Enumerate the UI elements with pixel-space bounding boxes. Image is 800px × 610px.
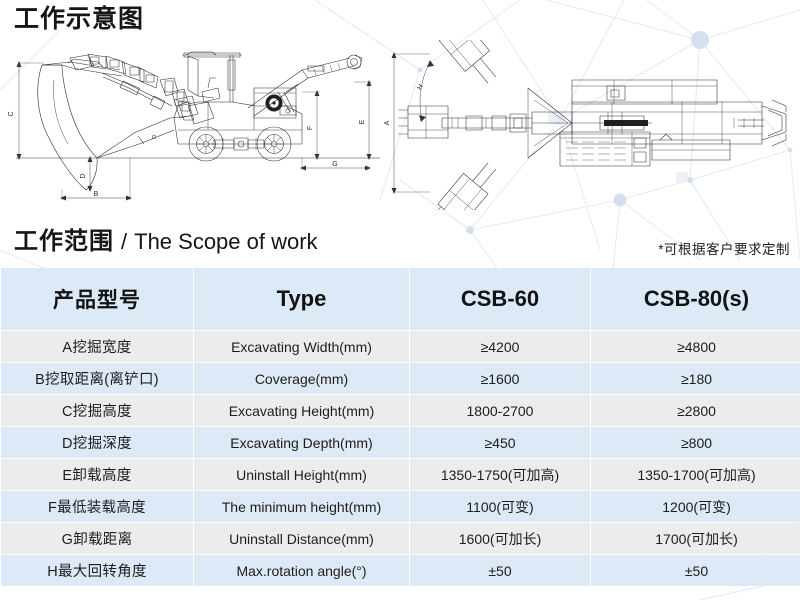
table-row: B挖取距离(离铲口) Coverage(mm) ≥1600 ≥180 bbox=[1, 363, 800, 394]
scope-heading-cn: 工作范围 bbox=[14, 221, 114, 256]
row-value-csb80: ≥180 bbox=[591, 363, 800, 394]
svg-text:A: A bbox=[384, 120, 391, 125]
row-label-en: Max.rotation angle(°) bbox=[194, 555, 409, 586]
row-value-csb80: 1200(可变) bbox=[591, 491, 800, 522]
customization-note: *可根据客户要求定制 bbox=[658, 238, 790, 258]
row-label-cn: D挖掘深度 bbox=[1, 427, 193, 458]
header-model: 产品型号 bbox=[1, 268, 193, 330]
row-value-csb80: ≥4800 bbox=[591, 331, 800, 362]
row-value-csb80: 1700(可加长) bbox=[591, 523, 800, 554]
diagram-area: C D B F E G bbox=[0, 40, 800, 210]
table-row: H最大回转角度 Max.rotation angle(°) ±50 ±50 bbox=[1, 555, 800, 586]
header-type: Type bbox=[194, 268, 409, 330]
svg-text:G: G bbox=[332, 161, 337, 168]
row-label-en: Excavating Depth(mm) bbox=[194, 427, 409, 458]
row-value-csb60: 1800-2700 bbox=[410, 395, 590, 426]
table-header: 产品型号 Type CSB-60 CSB-80(s) bbox=[1, 268, 800, 330]
row-value-csb80: ±50 bbox=[591, 555, 800, 586]
table-row: D挖掘深度 Excavating Depth(mm) ≥450 ≥800 bbox=[1, 427, 800, 458]
loader-side-view-diagram: C D B F E G bbox=[2, 40, 382, 210]
table-row: A挖掘宽度 Excavating Width(mm) ≥4200 ≥4800 bbox=[1, 331, 800, 362]
scope-heading-separator: / bbox=[121, 229, 127, 255]
row-value-csb60: ≥1600 bbox=[410, 363, 590, 394]
row-label-en: Uninstall Height(mm) bbox=[194, 459, 409, 490]
row-value-csb80: ≥800 bbox=[591, 427, 800, 458]
row-value-csb60: 1600(可加长) bbox=[410, 523, 590, 554]
row-label-en: Uninstall Distance(mm) bbox=[194, 523, 409, 554]
row-label-en: Excavating Height(mm) bbox=[194, 395, 409, 426]
table-row: C挖掘高度 Excavating Height(mm) 1800-2700 ≥2… bbox=[1, 395, 800, 426]
row-value-csb60: 1350-1750(可加高) bbox=[410, 459, 590, 490]
row-value-csb80: ≥2800 bbox=[591, 395, 800, 426]
row-label-cn: H最大回转角度 bbox=[1, 555, 193, 586]
page-title: 工作示意图 bbox=[14, 4, 144, 34]
row-label-cn: C挖掘高度 bbox=[1, 395, 193, 426]
row-value-csb80: 1350-1700(可加高) bbox=[591, 459, 800, 490]
svg-text:F: F bbox=[307, 126, 314, 130]
header-csb80: CSB-80(s) bbox=[591, 268, 800, 330]
svg-text:D: D bbox=[80, 173, 87, 178]
row-value-csb60: ±50 bbox=[410, 555, 590, 586]
row-value-csb60: ≥450 bbox=[410, 427, 590, 458]
svg-text:C: C bbox=[8, 111, 15, 116]
row-label-cn: F最低装载高度 bbox=[1, 491, 193, 522]
row-label-cn: E卸载高度 bbox=[1, 459, 193, 490]
svg-text:B: B bbox=[94, 191, 99, 198]
scope-heading-en: The Scope of work bbox=[134, 229, 317, 255]
svg-text:H: H bbox=[416, 83, 425, 91]
loader-top-view-diagram: A H bbox=[382, 40, 800, 210]
product-spec-page: 工作示意图 bbox=[0, 0, 800, 610]
row-label-cn: B挖取距离(离铲口) bbox=[1, 363, 193, 394]
row-label-cn: G卸载距离 bbox=[1, 523, 193, 554]
row-value-csb60: ≥4200 bbox=[410, 331, 590, 362]
row-label-en: Coverage(mm) bbox=[194, 363, 409, 394]
table-body: A挖掘宽度 Excavating Width(mm) ≥4200 ≥4800 B… bbox=[1, 331, 800, 586]
specification-table: 产品型号 Type CSB-60 CSB-80(s) A挖掘宽度 Excavat… bbox=[0, 267, 800, 587]
row-value-csb60: 1100(可变) bbox=[410, 491, 590, 522]
table-row: F最低装载高度 The minimum height(mm) 1100(可变) … bbox=[1, 491, 800, 522]
table-row: G卸载距离 Uninstall Distance(mm) 1600(可加长) 1… bbox=[1, 523, 800, 554]
svg-text:E: E bbox=[359, 119, 366, 124]
table-row: E卸载高度 Uninstall Height(mm) 1350-1750(可加高… bbox=[1, 459, 800, 490]
table-header-row: 产品型号 Type CSB-60 CSB-80(s) bbox=[1, 268, 800, 330]
header-csb60: CSB-60 bbox=[410, 268, 590, 330]
row-label-en: The minimum height(mm) bbox=[194, 491, 409, 522]
row-label-en: Excavating Width(mm) bbox=[194, 331, 409, 362]
scope-heading: 工作范围 / The Scope of work bbox=[14, 221, 318, 256]
row-label-cn: A挖掘宽度 bbox=[1, 331, 193, 362]
